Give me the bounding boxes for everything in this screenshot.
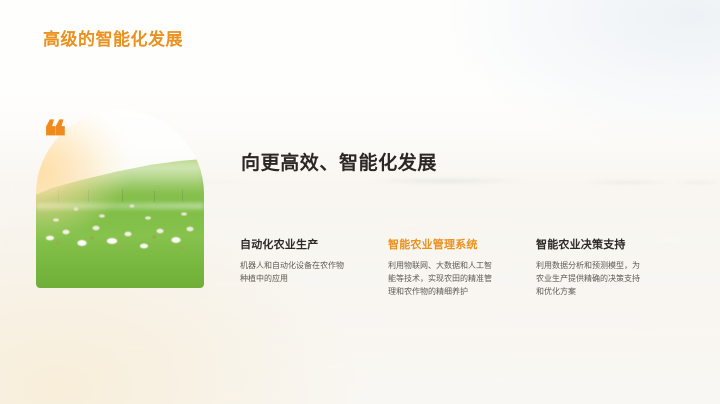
slide-title: 高级的智能化发展 xyxy=(43,25,183,50)
feature-column: 智能农业管理系统 利用物联网、大数据和人工智能等技术，实现农田的精准管理和农作物… xyxy=(388,236,536,299)
feature-column: 自动化农业生产 机器人和自动化设备在农作物种植中的应用 xyxy=(240,236,388,299)
feature-column-title: 自动化农业生产 xyxy=(240,236,388,252)
feature-column-body: 机器人和自动化设备在农作物种植中的应用 xyxy=(240,259,344,285)
main-heading: 向更高效、智能化发展 xyxy=(241,148,437,175)
feature-column-body: 利用物联网、大数据和人工智能等技术，实现农田的精准管理和农作物的精细养护 xyxy=(388,259,492,299)
feature-column-body: 利用数据分析和预测模型，为农业生产提供精确的决策支持和优化方案 xyxy=(536,259,640,299)
feature-column-title: 智能农业管理系统 xyxy=(388,236,536,252)
presentation-slide: 高级的智能化发展 ❝ 向更高效、智能化发展 自动化农业生产 机器人和自动化设备在… xyxy=(0,0,720,404)
quote-mark-icon: ❝ xyxy=(43,116,67,160)
feature-column: 智能农业决策支持 利用数据分析和预测模型，为农业生产提供精确的决策支持和优化方案 xyxy=(536,236,684,299)
feature-column-title: 智能农业决策支持 xyxy=(536,236,684,252)
feature-columns: 自动化农业生产 机器人和自动化设备在农作物种植中的应用 智能农业管理系统 利用物… xyxy=(240,236,690,299)
